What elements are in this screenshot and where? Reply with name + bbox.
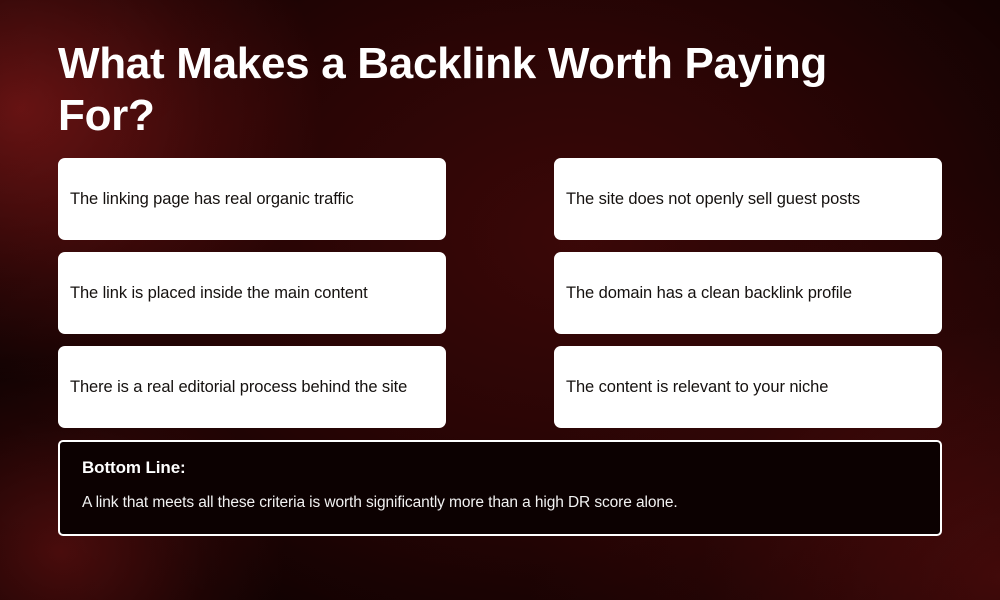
bottom-line-callout: Bottom Line: A link that meets all these… [58,440,942,536]
criteria-card: The link is placed inside the main conte… [58,252,446,334]
criteria-card-label: The domain has a clean backlink profile [566,283,852,304]
criteria-card-label: The linking page has real organic traffi… [70,189,354,210]
bottom-line-body: A link that meets all these criteria is … [82,494,918,512]
criteria-card: The site does not openly sell guest post… [554,158,942,240]
criteria-card-label: The content is relevant to your niche [566,377,828,398]
criteria-card: The domain has a clean backlink profile [554,252,942,334]
criteria-card-label: The site does not openly sell guest post… [566,189,860,210]
criteria-card-label: There is a real editorial process behind… [70,377,407,398]
criteria-card: The content is relevant to your niche [554,346,942,428]
bottom-line-heading: Bottom Line: [82,458,918,478]
page-title: What Makes a Backlink Worth Paying For? [58,38,928,142]
criteria-card: The linking page has real organic traffi… [58,158,446,240]
criteria-card-label: The link is placed inside the main conte… [70,283,368,304]
criteria-card: There is a real editorial process behind… [58,346,446,428]
slide-canvas: What Makes a Backlink Worth Paying For? … [0,0,1000,600]
